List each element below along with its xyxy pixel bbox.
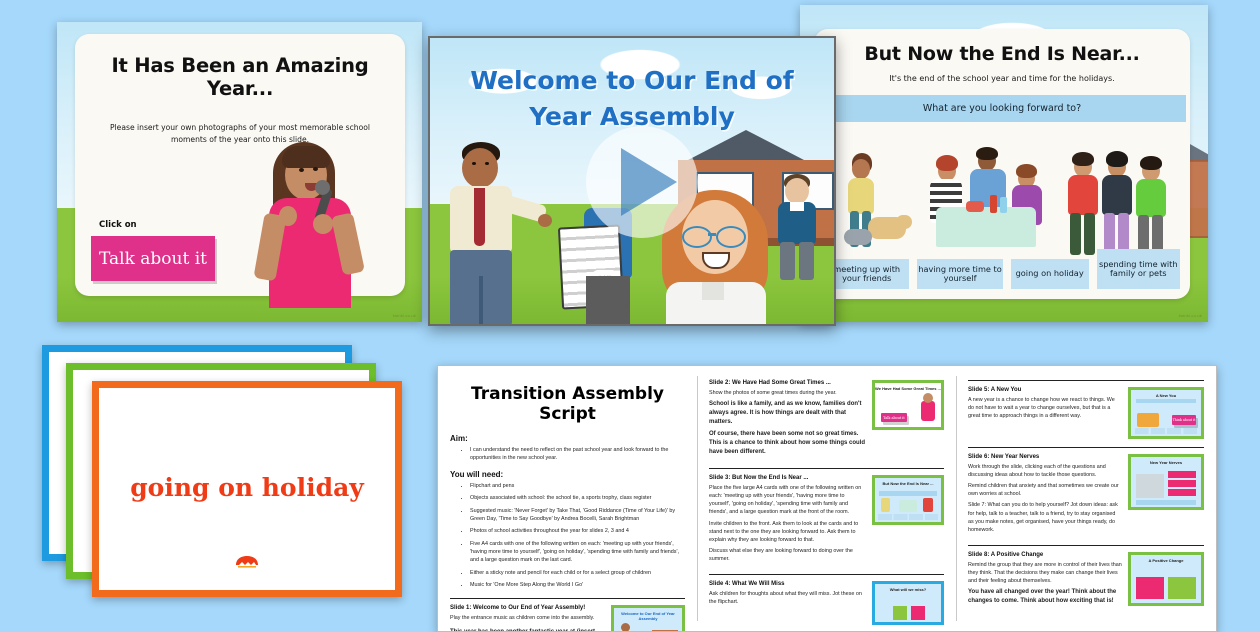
thumbnail-figure [1136, 474, 1164, 498]
body-shape [1068, 175, 1098, 215]
slide3-thumbnail[interactable]: But Now the End Is Near ... [872, 475, 944, 525]
divider [968, 447, 1204, 448]
eye-shape [313, 167, 318, 171]
chip-time-to-yourself[interactable]: having more time to yourself [917, 259, 1002, 289]
question-band: What are you looking forward to? [818, 95, 1186, 122]
chip-family-or-pets[interactable]: spending time with family or pets [1097, 249, 1180, 289]
table-food-icon [966, 201, 984, 212]
slide-title: It Has Been an Amazing Year... [75, 54, 405, 100]
slide3-line-2: Invite children to the front. Ask them t… [709, 520, 866, 544]
divider [709, 468, 944, 469]
list-item: Music for 'One More Step Along the World… [470, 581, 685, 589]
thumbnail-band [1136, 399, 1196, 403]
glasses-icon [682, 226, 712, 248]
eye-shape [299, 168, 304, 172]
hand-shape [538, 214, 552, 227]
list-item: Objects associated with school: the scho… [470, 494, 685, 502]
thumbnail-figure [911, 606, 925, 620]
thumbnail-figure [899, 500, 917, 512]
leg-shape [799, 242, 814, 280]
question-band-label: What are you looking forward to? [923, 103, 1081, 114]
twinkl-logo-icon [234, 555, 260, 574]
you-will-need-heading: You will need: [450, 470, 685, 479]
teacher-illustration [444, 142, 540, 324]
thumbnail-figure-head [923, 393, 933, 403]
slide3-heading: Slide 3: But Now the End Is Near ... [709, 475, 866, 481]
slide2-line-3: Of course, there have been some not so g… [709, 430, 866, 457]
hand-shape [279, 206, 297, 226]
body-shape [1136, 179, 1166, 217]
standing-boy-illustration [772, 174, 824, 280]
list-item: Either a sticky note and pencil for each… [470, 569, 685, 577]
dog-icon [844, 229, 872, 245]
slide8-line-2: You have all changed over the year! Thin… [968, 588, 1122, 606]
hair-shape [1072, 152, 1094, 166]
slide-end-is-near[interactable]: But Now the End Is Near... It's the end … [800, 5, 1208, 322]
slide3-line-1: Place the five large A4 cards with one o… [709, 484, 866, 516]
list-item: Flipchart and pens [470, 482, 685, 490]
chip-meeting-friends[interactable]: meeting up with your friends [824, 259, 909, 289]
click-on-label: Click on [99, 220, 137, 230]
document-title: Transition Assembly Script [450, 384, 685, 424]
thumbnail-pink-block [1168, 471, 1196, 478]
thumbnail-figure [893, 606, 907, 620]
table-shape [936, 207, 1036, 247]
thumbnail-button[interactable]: Talk about it [881, 413, 907, 422]
you-will-need-list: Flipchart and pens Objects associated wi… [460, 482, 685, 590]
table-bottle-icon [1000, 197, 1007, 213]
slide2-thumbnail[interactable]: We Have Had Some Great Times ... Talk ab… [872, 380, 944, 430]
hair-shape [1016, 164, 1037, 178]
chip-label: meeting up with your friends [824, 265, 909, 284]
slide4-heading: Slide 4: What We Will Miss [709, 581, 866, 587]
trouser-gap [479, 276, 483, 326]
aim-list: I can understand the need to reflect on … [460, 446, 685, 463]
chip-going-on-holiday[interactable]: going on holiday [1011, 259, 1089, 289]
head-shape [785, 178, 809, 204]
talk-about-it-label: Talk about it [99, 249, 207, 269]
slide8-line-1: Remind the group that they are more in c… [968, 561, 1122, 585]
glasses-bridge-icon [708, 233, 716, 236]
thumbnail-pink-block [1168, 489, 1196, 496]
watermark: twinkl.co.uk [1179, 313, 1202, 318]
body-shape [848, 178, 874, 214]
body-shape [1102, 175, 1132, 215]
thumbnail-title: Welcome to Our End of Year Assembly [614, 611, 682, 621]
document-page-1[interactable]: Transition Assembly Script Aim: I can un… [438, 366, 697, 631]
divider [968, 545, 1204, 546]
thumbnail-chips [1135, 428, 1197, 434]
trousers-shape [586, 276, 630, 324]
slide4-thumbnail[interactable]: What will we miss? [872, 581, 944, 625]
presenter-illustration [253, 140, 373, 305]
list-item: Five A4 cards with one of the following … [470, 540, 685, 565]
thumbnail-green-panel [1168, 577, 1196, 599]
slide8-heading: Slide 8: A Positive Change [968, 552, 1122, 558]
slide6-heading: Slide 6: New Year Nerves [968, 454, 1122, 460]
slide3-line-3: Discuss what else they are looking forwa… [709, 547, 866, 563]
thumbnail-button[interactable]: Think about it [1172, 415, 1196, 425]
play-triangle-icon [621, 148, 677, 216]
list-item: Photos of school activities throughout t… [470, 527, 685, 535]
chip-label: having more time to yourself [917, 265, 1002, 284]
glasses-icon [716, 226, 746, 248]
printable-card-text: going on holiday [99, 473, 395, 502]
slide1-thumbnail[interactable]: Welcome to Our End of Year Assembly [611, 605, 685, 632]
hand-shape [313, 214, 333, 234]
slide4-line-1: Ask children for thoughts about what the… [709, 590, 866, 606]
tie-icon [474, 188, 485, 246]
eye-shape [472, 162, 476, 165]
thumbnail-pink-panel [1136, 577, 1164, 599]
list-item: I can understand the need to reflect on … [470, 446, 685, 463]
chips-row: meeting up with your friends having more… [824, 249, 1180, 289]
aim-heading: Aim: [450, 434, 685, 443]
slide2-line-2: School is like a family, and as we know,… [709, 400, 866, 427]
slide-subtitle: It's the end of the school year and time… [814, 74, 1190, 83]
dog-head-icon [896, 215, 912, 229]
printable-card-stack[interactable]: going on holiday [40, 344, 400, 594]
document-page-3[interactable]: Slide 5: A New You A new year is a chanc… [956, 366, 1216, 631]
divider [709, 574, 944, 575]
family-table-illustration [920, 147, 1050, 265]
list-item: Suggested music: 'Never Forget' by Take … [470, 507, 685, 524]
people-illustration-strip [828, 147, 1176, 265]
collar-shape [790, 202, 804, 211]
school-roof-icon [688, 130, 804, 160]
eye-shape [485, 162, 489, 165]
leg-shape [780, 242, 795, 280]
thumbnail-title: A Positive Change [1131, 558, 1201, 563]
thumbnail-figure [881, 498, 890, 512]
thumbnail-button-label: Think about it [1173, 418, 1196, 422]
slide1-line-1: Play the entrance music as children come… [450, 614, 605, 622]
slide-content-card: But Now the End Is Near... It's the end … [814, 29, 1190, 299]
microphone-head-icon [315, 180, 330, 195]
thumbnail-band [1136, 500, 1196, 505]
preview-stage: It Has Been an Amazing Year... Please in… [0, 0, 1260, 630]
watermark: twinkl.co.uk [393, 313, 416, 318]
document-page-2[interactable]: Slide 2: We Have Had Some Great Times ..… [697, 366, 956, 631]
table-bottle-icon [990, 195, 997, 213]
slide6-thumbnail[interactable]: New Year Nerves [1128, 454, 1204, 510]
chip-label: spending time with family or pets [1097, 260, 1180, 279]
collar-shape [702, 282, 724, 300]
thumbnail-figure-head [621, 623, 630, 632]
thumbnail-title: But Now the End Is Near ... [875, 481, 941, 486]
slide5-heading: Slide 5: A New You [968, 387, 1122, 393]
printable-card-orange[interactable]: going on holiday [92, 381, 402, 597]
hair-shape [1106, 151, 1128, 167]
hair-shape [976, 147, 998, 160]
talk-about-it-button[interactable]: Talk about it [91, 236, 215, 281]
slide-title-line-1: Welcome to Our End of [430, 66, 834, 95]
slide-amazing-year[interactable]: It Has Been an Amazing Year... Please in… [57, 22, 422, 322]
hair-fringe-shape [282, 146, 330, 168]
slide2-heading: Slide 2: We Have Had Some Great Times ..… [709, 380, 866, 386]
friends-group-illustration [1066, 149, 1176, 265]
slide6-line-2: Remind children that anxiety and that so… [968, 482, 1122, 498]
slide6-line-1: Work through the slide, clicking each of… [968, 463, 1122, 479]
thumbnail-chips [878, 514, 938, 520]
document-preview[interactable]: Transition Assembly Script Aim: I can un… [437, 365, 1217, 632]
slide1-heading: Slide 1: Welcome to Our End of Year Asse… [450, 605, 605, 611]
thumbnail-title: A New You [1131, 393, 1201, 398]
hair-shape [936, 155, 958, 171]
slide5-thumbnail[interactable]: A New You Think about it [1128, 387, 1204, 439]
slide2-line-1: Show the photos of some great times duri… [709, 389, 866, 397]
thumbnail-band [879, 491, 937, 496]
head-shape [462, 148, 498, 188]
thumbnail-title: We Have Had Some Great Times ... [875, 386, 941, 391]
slide-welcome-video[interactable]: twinkl Welcome to Our End of Year Assemb… [428, 36, 836, 326]
thumbnail-figure [1137, 413, 1159, 427]
divider [450, 598, 685, 599]
thumbnail-pink-block [1168, 480, 1196, 487]
thumbnail-title: New Year Nerves [1131, 460, 1201, 465]
thumbnail-figure [921, 401, 935, 421]
slide-title: But Now the End Is Near... [814, 43, 1190, 65]
play-button[interactable] [586, 126, 698, 238]
divider [968, 380, 1204, 381]
thumbnail-button-label: Talk about it [883, 416, 905, 420]
slide6-line-3: Slide 7: What can you do to help yoursel… [968, 501, 1122, 533]
slide5-line-1: A new year is a chance to change how we … [968, 396, 1122, 420]
thumbnail-figure [923, 498, 933, 512]
chip-label: going on holiday [1016, 269, 1084, 278]
head-shape [852, 159, 870, 179]
slide8-thumbnail[interactable]: A Positive Change [1128, 552, 1204, 606]
hair-shape [1140, 156, 1162, 170]
thumbnail-title: What will we miss? [875, 587, 941, 592]
